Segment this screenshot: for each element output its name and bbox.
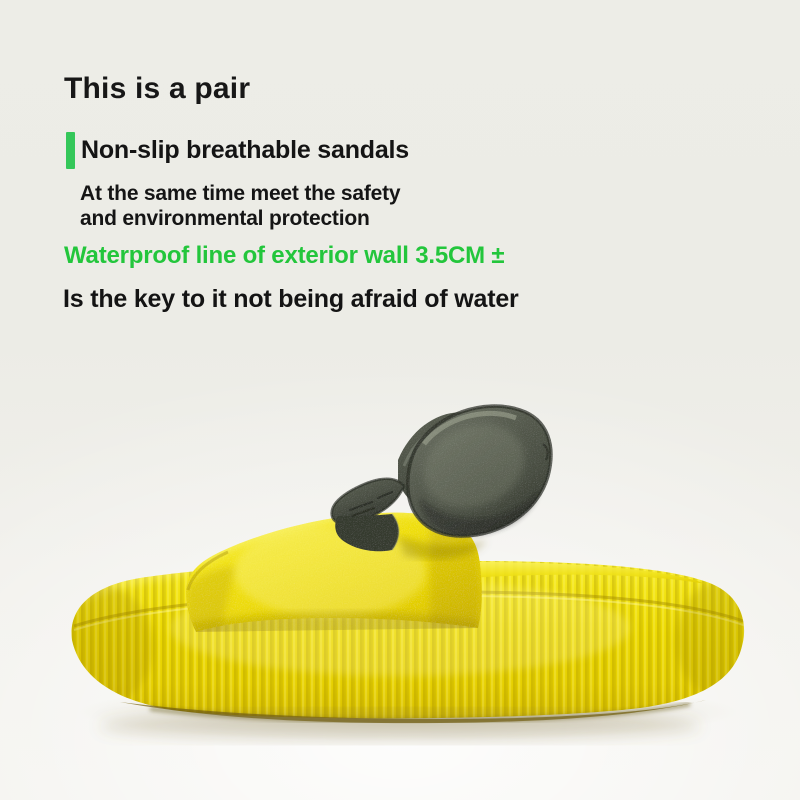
- headline: This is a pair: [64, 72, 250, 106]
- product-marketing-image: This is a pair Non-slip breathable sanda…: [0, 0, 800, 800]
- closing-text: Is the key to it not being afraid of wat…: [63, 285, 519, 314]
- product-drop-shadow: [100, 710, 700, 742]
- product-photo-sandal: [0, 340, 800, 770]
- green-accent-bar: [66, 132, 75, 169]
- subheadline: Non-slip breathable sandals: [81, 136, 409, 165]
- body-text-line-1: At the same time meet the safety: [80, 181, 400, 206]
- heel-strap: [332, 406, 551, 551]
- highlight-text: Waterproof line of exterior wall 3.5CM ±: [64, 242, 504, 270]
- body-text-line-2: and environmental protection: [80, 206, 370, 231]
